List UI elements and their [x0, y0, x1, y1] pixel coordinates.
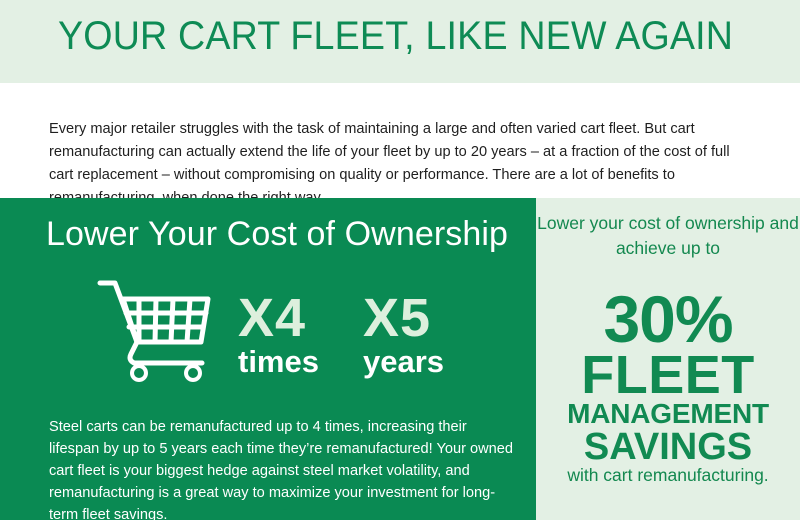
savings-line-fleet: FLEET [536, 348, 800, 402]
cost-of-ownership-panel: Lower Your Cost of Ownership [0, 198, 536, 520]
savings-callout-panel: Lower your cost of ownership and achieve… [536, 198, 800, 520]
savings-lead-text: Lower your cost of ownership and achieve… [536, 211, 800, 261]
stat-times: X4 times [238, 291, 319, 379]
savings-line-savings: SAVINGS [536, 426, 800, 468]
stat-years-number: X5 [363, 291, 444, 345]
savings-footer-text: with cart remanufacturing. [536, 463, 800, 488]
savings-line-management: MANAGEMENT [536, 399, 800, 429]
stat-times-number: X4 [238, 291, 319, 345]
stat-years: X5 years [363, 291, 444, 379]
panel-body-paragraph: Steel carts can be remanufactured up to … [49, 416, 519, 526]
intro-paragraph: Every major retailer struggles with the … [49, 118, 749, 210]
stat-years-label: years [363, 345, 444, 379]
header-band: YOUR CART FLEET, LIKE NEW AGAIN [0, 0, 800, 83]
savings-percent: 30% [536, 286, 800, 352]
page-title: YOUR CART FLEET, LIKE NEW AGAIN [58, 14, 733, 59]
infographic-page: { "colors": { "brand_green": "#0a8a53", … [0, 0, 800, 520]
shopping-cart-icon [97, 280, 227, 382]
panel-heading: Lower Your Cost of Ownership [46, 215, 508, 254]
stat-times-label: times [238, 345, 319, 379]
intro-band: Every major retailer struggles with the … [0, 83, 800, 198]
